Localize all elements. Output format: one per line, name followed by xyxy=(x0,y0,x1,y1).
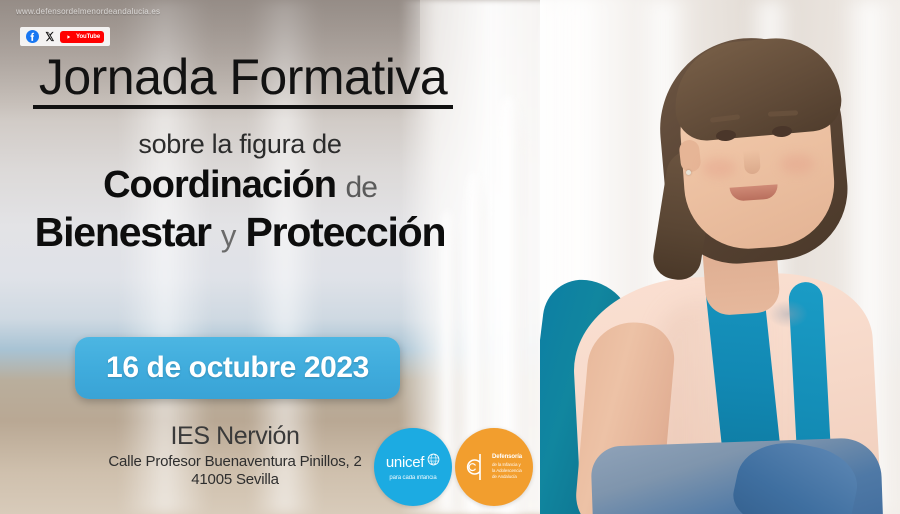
title-y: y xyxy=(221,218,235,253)
cheek-highlight xyxy=(702,158,736,178)
shirt-graphic xyxy=(768,300,808,328)
earring-icon xyxy=(686,170,691,175)
student-ear xyxy=(678,139,701,173)
title-de: de xyxy=(346,171,377,204)
event-date-badge: 16 de octubre 2023 xyxy=(75,337,400,399)
student-photo xyxy=(540,0,900,514)
title-bienestar-proteccion-line: Bienestar y Protección xyxy=(0,209,480,256)
poster-canvas: www.defensordelmenordeandalucia.es YouTu… xyxy=(0,0,900,514)
title-coordinacion: Coordinación xyxy=(103,164,336,206)
headline-block: Jornada Formativa sobre la figura de Coo… xyxy=(0,52,480,256)
defensoria-wordmark: Defensoría de la Infancia y la Adolescen… xyxy=(492,454,522,480)
event-date-text: 16 de octubre 2023 xyxy=(106,351,369,385)
cheek-highlight xyxy=(780,154,814,174)
unicef-wordmark: unicef xyxy=(386,454,424,471)
x-twitter-icon[interactable] xyxy=(44,31,55,42)
title-bienestar: Bienestar xyxy=(35,209,211,255)
subtitle-sobre-la-figura-de: sobre la figura de xyxy=(0,129,480,160)
unicef-wordmark-row: unicef xyxy=(386,453,440,471)
unicef-logo: unicef para cada infancia xyxy=(374,428,452,506)
unicef-globe-icon xyxy=(427,453,440,471)
title-proteccion: Protección xyxy=(245,209,445,255)
youtube-icon[interactable]: YouTube xyxy=(60,31,104,43)
defensoria-title: Defensoría xyxy=(492,454,522,460)
website-url: www.defensordelmenordeandalucia.es xyxy=(16,7,160,16)
title-jornada-formativa: Jornada Formativa xyxy=(33,52,453,109)
social-links-bar[interactable]: YouTube xyxy=(20,27,110,46)
unicef-tagline: para cada infancia xyxy=(389,475,436,481)
defensoria-logo: Defensoría de la Infancia y la Adolescen… xyxy=(455,428,533,506)
youtube-label: YouTube xyxy=(76,34,100,40)
nose xyxy=(743,149,761,174)
defensoria-subtitle: de la Infancia y la Adolescencia de Anda… xyxy=(492,462,522,480)
facebook-icon[interactable] xyxy=(26,30,39,43)
title-coordinacion-line: Coordinación de xyxy=(0,164,480,207)
defensoria-mark-icon xyxy=(466,453,488,481)
